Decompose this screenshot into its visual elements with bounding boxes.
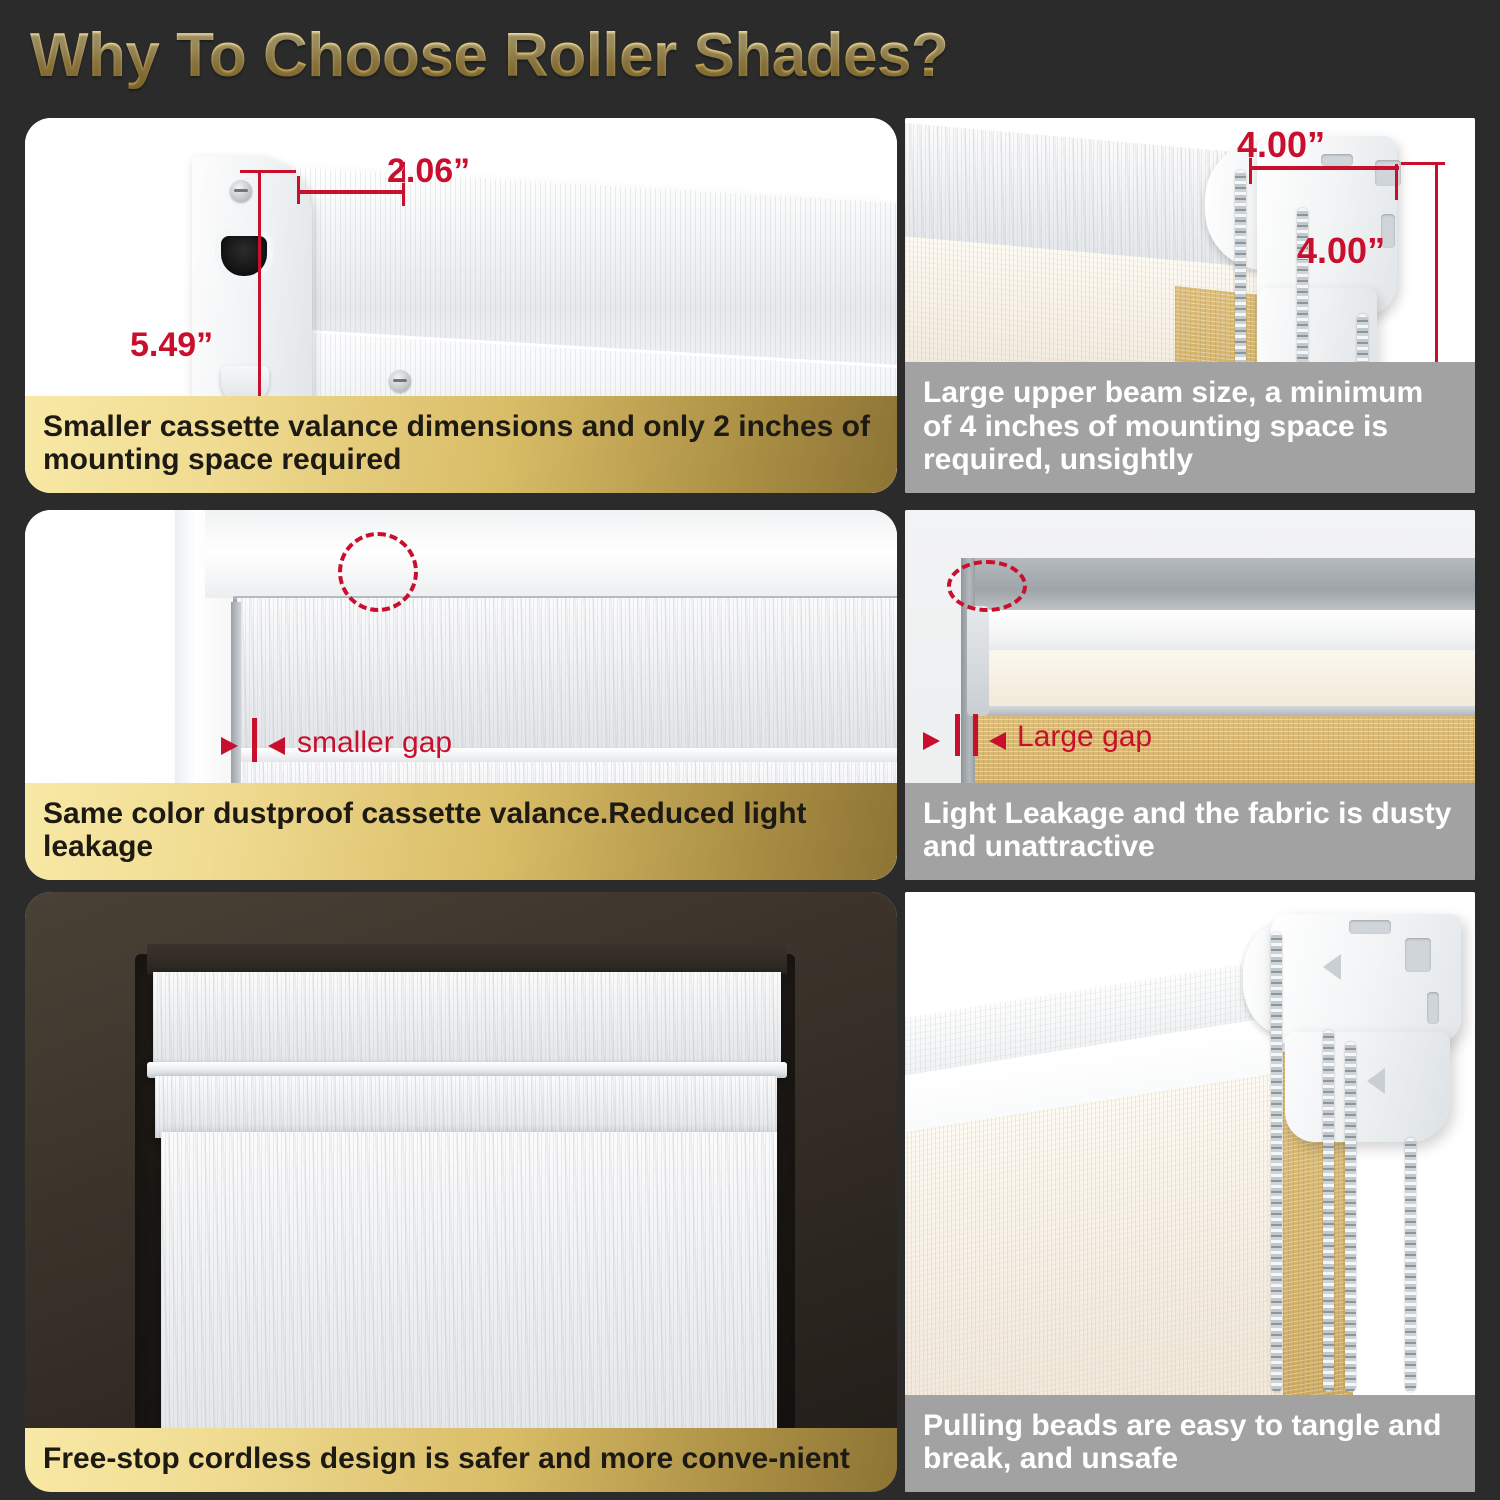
panel-caption: Smaller cassette valance dimensions and …	[25, 396, 897, 493]
upper-beam	[965, 558, 1475, 616]
width-dimension-tick-right	[1395, 164, 1398, 200]
panel-light-leakage[interactable]: Large gap Light Leakage and the fabric i…	[905, 510, 1475, 880]
bracket-arrow-icon	[1323, 954, 1341, 980]
shade-fabric	[161, 1132, 777, 1462]
height-dimension-label: 4.00”	[1297, 230, 1385, 272]
panel-large-upper-beam[interactable]: 4.00” 4.00” Large upper beam size, a min…	[905, 118, 1475, 493]
panel-smaller-cassette-valance[interactable]: 5.49” 2.06” Smaller cassette valance dim…	[25, 118, 897, 493]
width-dimension-line	[1249, 166, 1399, 170]
bracket-slot	[1349, 920, 1391, 934]
bracket-slot	[1405, 938, 1431, 972]
highlight-circle	[947, 560, 1027, 612]
gap-marker-right	[973, 714, 978, 756]
bead-chain[interactable]	[1405, 1138, 1416, 1392]
recess-header	[147, 944, 787, 974]
bracket-arrow-icon	[1367, 1068, 1385, 1094]
bead-chain[interactable]	[1323, 1030, 1334, 1392]
panel-caption: Free-stop cordless design is safer and m…	[25, 1428, 897, 1492]
page-title: Why To Choose Roller Shades?	[30, 20, 948, 91]
panel-free-stop-cordless[interactable]: Free-stop cordless design is safer and m…	[25, 892, 897, 1492]
height-dimension-tick-top	[240, 170, 296, 173]
shade-fabric-cream	[971, 650, 1475, 708]
panel-pulling-beads[interactable]: Pulling beads are easy to tangle and bre…	[905, 892, 1475, 1492]
page-header: Why To Choose Roller Shades?	[0, 0, 1500, 110]
highlight-circle	[338, 532, 418, 612]
gap-arrow-left-icon	[221, 737, 238, 755]
gap-label: Large gap	[1017, 720, 1152, 754]
panel-caption: Same color dustproof cassette valance.Re…	[25, 783, 897, 880]
bracket-slot	[1427, 992, 1439, 1024]
bead-chain[interactable]	[1271, 932, 1282, 1392]
side-mechanism	[967, 606, 989, 716]
height-dimension-tick-top	[1401, 162, 1445, 165]
valance-lower	[155, 1076, 777, 1138]
panel-dustproof-cassette-valance[interactable]: smaller gap Same color dustproof cassett…	[25, 510, 897, 880]
gap-marker-left	[955, 714, 960, 756]
width-dimension-label: 4.00”	[1237, 124, 1325, 166]
window-frame-top	[205, 510, 897, 598]
height-dimension-label: 5.49”	[130, 326, 213, 365]
bracket-slot	[1321, 154, 1353, 166]
gap-arrow-right-icon	[268, 737, 285, 755]
gap-arrow-left-icon	[923, 732, 940, 750]
panel-caption: Pulling beads are easy to tangle and bre…	[905, 1395, 1475, 1492]
panel-caption: Large upper beam size, a minimum of 4 in…	[905, 362, 1475, 493]
gap-marker	[252, 718, 257, 762]
screw-icon	[389, 370, 411, 392]
width-dimension-label: 2.06”	[387, 152, 470, 191]
gap-label: smaller gap	[297, 726, 452, 760]
gap-arrow-right-icon	[989, 732, 1006, 750]
comparison-grid: 5.49” 2.06” Smaller cassette valance dim…	[0, 110, 1500, 1500]
screw-icon	[230, 180, 252, 202]
photo-room-window	[25, 892, 897, 1492]
width-dimension-tick-left	[297, 176, 300, 204]
bead-chain[interactable]	[1345, 1042, 1356, 1392]
cassette-valance	[153, 972, 781, 1070]
panel-caption: Light Leakage and the fabric is dusty an…	[905, 783, 1475, 880]
